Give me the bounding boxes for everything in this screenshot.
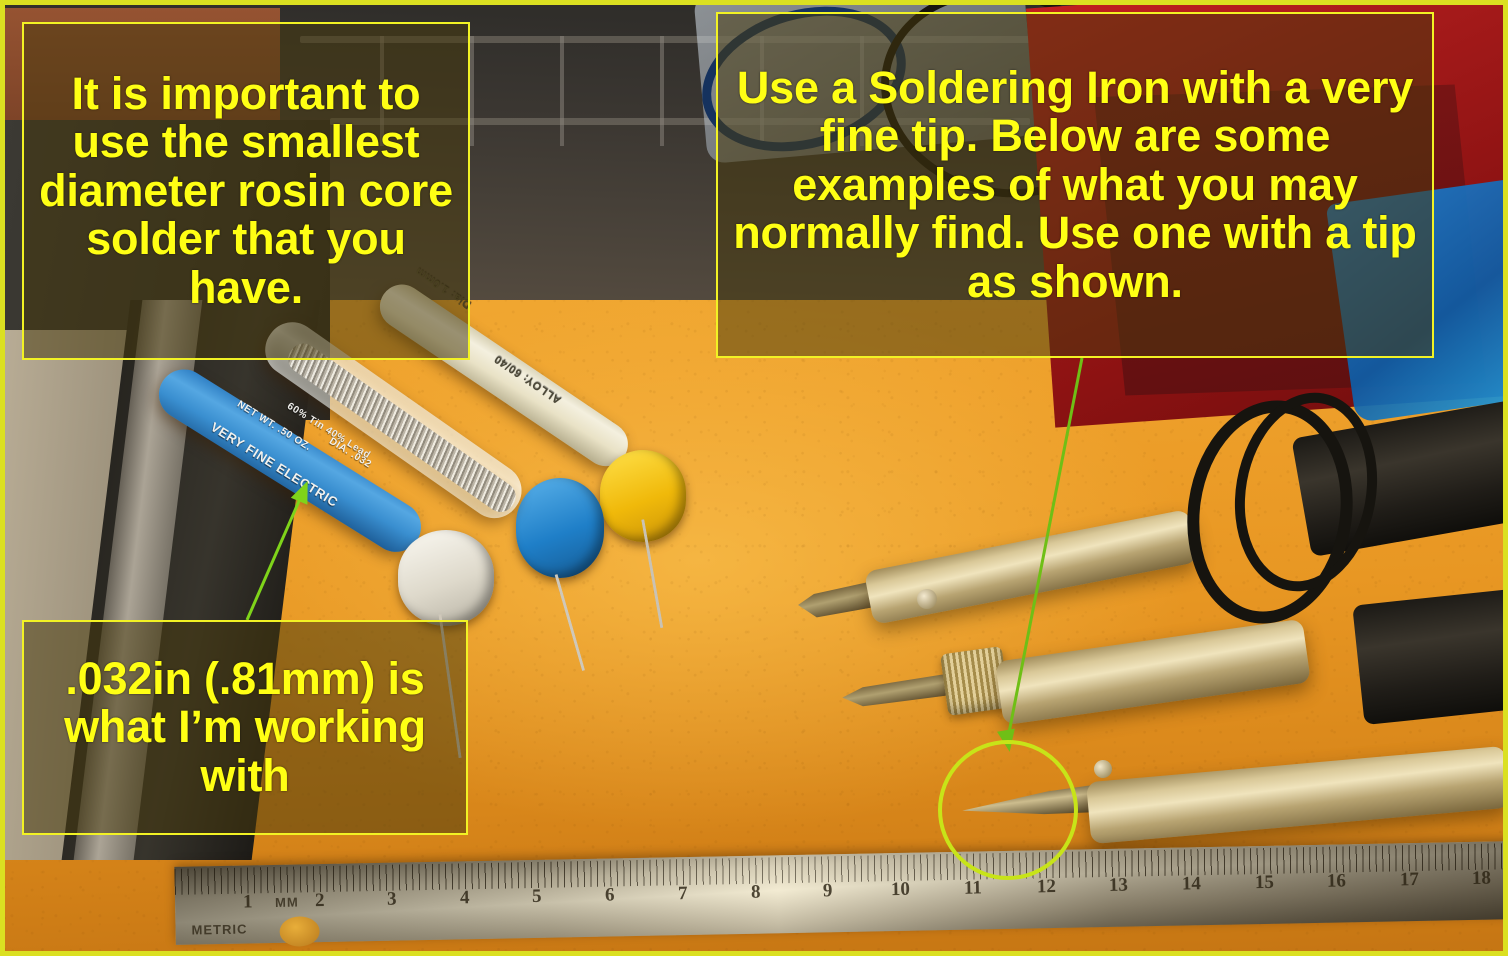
dish-rack-wire bbox=[470, 36, 474, 146]
ruler-number: 12 bbox=[1037, 876, 1056, 898]
ruler-number: 10 bbox=[891, 879, 910, 901]
ruler-number: 9 bbox=[823, 880, 833, 902]
dish-rack-wire bbox=[660, 36, 664, 146]
ruler-number: 17 bbox=[1400, 869, 1419, 891]
callout-solder-advice: It is important to use the smallest diam… bbox=[22, 22, 470, 360]
callout-diameter-note: .032in (.81mm) is what I’m working with bbox=[22, 620, 468, 835]
callout-iron-advice: Use a Soldering Iron with a very fine ti… bbox=[716, 12, 1434, 358]
ruler-number: 13 bbox=[1109, 875, 1128, 897]
annotated-photo: Dia: 1.0mm ALLOY: 60/40 VERY FINE ELECTR… bbox=[0, 0, 1508, 956]
iron-chisel-screw bbox=[917, 589, 937, 609]
ruler-number: 14 bbox=[1182, 873, 1201, 895]
ruler-number: 5 bbox=[532, 886, 542, 908]
ruler-number: 2 bbox=[315, 890, 325, 912]
ruler-number: 6 bbox=[605, 884, 615, 906]
ruler-number: 1 bbox=[243, 891, 253, 913]
ruler-system-label: METRIC bbox=[191, 921, 247, 937]
solder-cap-blue bbox=[516, 478, 604, 578]
iron-handle-lower bbox=[1352, 587, 1508, 725]
ruler-number: 18 bbox=[1472, 868, 1491, 890]
ruler-number: 4 bbox=[460, 887, 470, 909]
ruler-number: 11 bbox=[964, 877, 982, 899]
ruler-number: 16 bbox=[1327, 870, 1346, 892]
ruler-unit-label: MM bbox=[275, 894, 299, 909]
ruler-number: 15 bbox=[1255, 872, 1274, 894]
ruler-number: 3 bbox=[387, 889, 397, 911]
ruler-number: 7 bbox=[678, 883, 688, 905]
ruler-number: 8 bbox=[751, 882, 761, 904]
dish-rack-wire bbox=[560, 36, 564, 146]
